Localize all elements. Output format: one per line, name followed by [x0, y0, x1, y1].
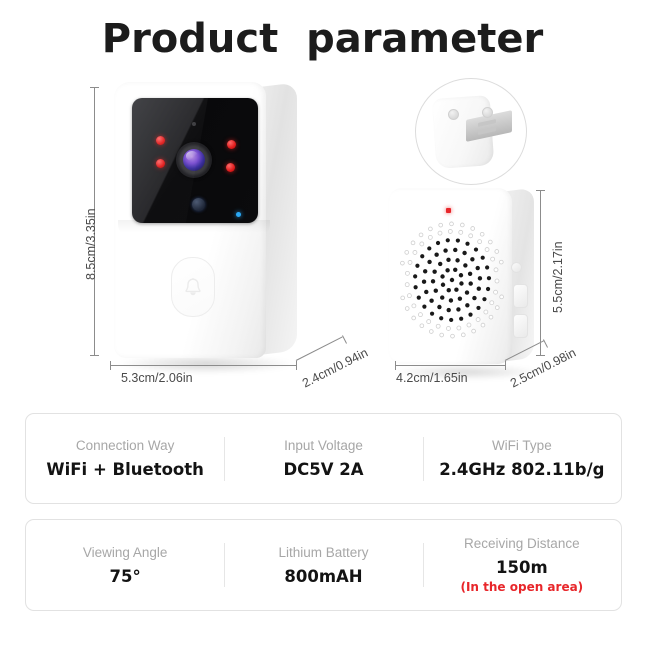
spec-card: Connection Way WiFi + Bluetooth Input Vo… — [25, 413, 622, 504]
camera-lens-icon — [176, 142, 212, 178]
spec-cell-receiving-distance: Receiving Distance 150m (In the open are… — [423, 536, 621, 594]
spec-label: Input Voltage — [284, 438, 363, 453]
dimension-cap — [90, 355, 99, 356]
chime-pair-button — [511, 262, 522, 273]
spec-value: WiFi + Bluetooth — [46, 460, 203, 479]
doorbell-depth-dimension-line — [296, 336, 343, 360]
dimension-cap — [90, 87, 99, 88]
doorbell-body-seam — [118, 220, 270, 238]
chime-height-label: 5.5cm/2.17in — [551, 241, 565, 313]
speaker-grille-icon — [400, 220, 504, 340]
dimension-cap — [296, 361, 297, 370]
spec-label: WiFi Type — [492, 438, 552, 453]
chime-volume-up-button — [513, 284, 528, 308]
doorbell-width-label: 5.3cm/2.06in — [121, 371, 193, 385]
doorbell-ring-button — [171, 257, 215, 317]
spec-label: Lithium Battery — [278, 545, 368, 560]
spec-cell-input-voltage: Input Voltage DC5V 2A — [224, 438, 422, 479]
ir-led-icon — [156, 136, 165, 145]
chime-height-dimension-line — [540, 190, 541, 355]
spec-value: DC5V 2A — [283, 460, 363, 479]
doorbell-height-label: 8.5cm/3.35in — [84, 208, 98, 280]
ir-led-icon — [227, 140, 236, 149]
pir-sensor-icon — [192, 198, 205, 211]
ir-led-icon — [156, 159, 165, 168]
spec-cell-lithium-battery: Lithium Battery 800mAH — [224, 545, 422, 586]
spec-cell-wifi-type: WiFi Type 2.4GHz 802.11b/g — [423, 438, 621, 479]
dimension-cap — [536, 355, 545, 356]
dimension-cap — [536, 190, 545, 191]
dimension-cap — [505, 361, 506, 370]
doorbell-illustration — [110, 82, 300, 377]
spec-note: (In the open area) — [460, 580, 583, 594]
spec-label: Connection Way — [76, 438, 175, 453]
product-illustration-area: 8.5cm/3.35in 5.3cm/2.06in 2.4cm/0.94in — [0, 70, 645, 400]
dimension-cap — [395, 361, 396, 370]
spec-value: 150m — [496, 558, 548, 577]
spec-label: Viewing Angle — [83, 545, 168, 560]
screw-icon — [448, 109, 459, 120]
spec-value: 2.4GHz 802.11b/g — [439, 460, 604, 479]
chime-width-label: 4.2cm/1.65in — [396, 371, 468, 385]
chime-width-dimension-line — [395, 365, 505, 366]
product-parameter-page: Product parameter — [0, 0, 645, 645]
plug-detail-callout — [415, 78, 527, 185]
microphone-icon — [192, 122, 196, 126]
chime-body — [388, 188, 512, 364]
spec-card: Viewing Angle 75° Lithium Battery 800mAH… — [25, 519, 622, 611]
spec-cell-connection-way: Connection Way WiFi + Bluetooth — [26, 438, 224, 479]
spec-label: Receiving Distance — [464, 536, 580, 551]
page-title: Product parameter — [0, 16, 645, 62]
dimension-cap — [110, 361, 111, 370]
chime-volume-down-button — [513, 314, 528, 338]
spec-value: 75° — [110, 567, 141, 586]
doorbell-front-panel — [132, 98, 258, 223]
spec-cell-viewing-angle: Viewing Angle 75° — [26, 545, 224, 586]
doorbell-width-dimension-line — [110, 365, 296, 366]
chime-status-led-icon — [446, 208, 451, 213]
status-led-icon — [236, 212, 241, 217]
screw-icon — [482, 107, 493, 118]
spec-value: 800mAH — [284, 567, 362, 586]
ir-led-icon — [226, 163, 235, 172]
dimension-cap — [342, 335, 347, 343]
doorbell-body — [114, 82, 266, 358]
